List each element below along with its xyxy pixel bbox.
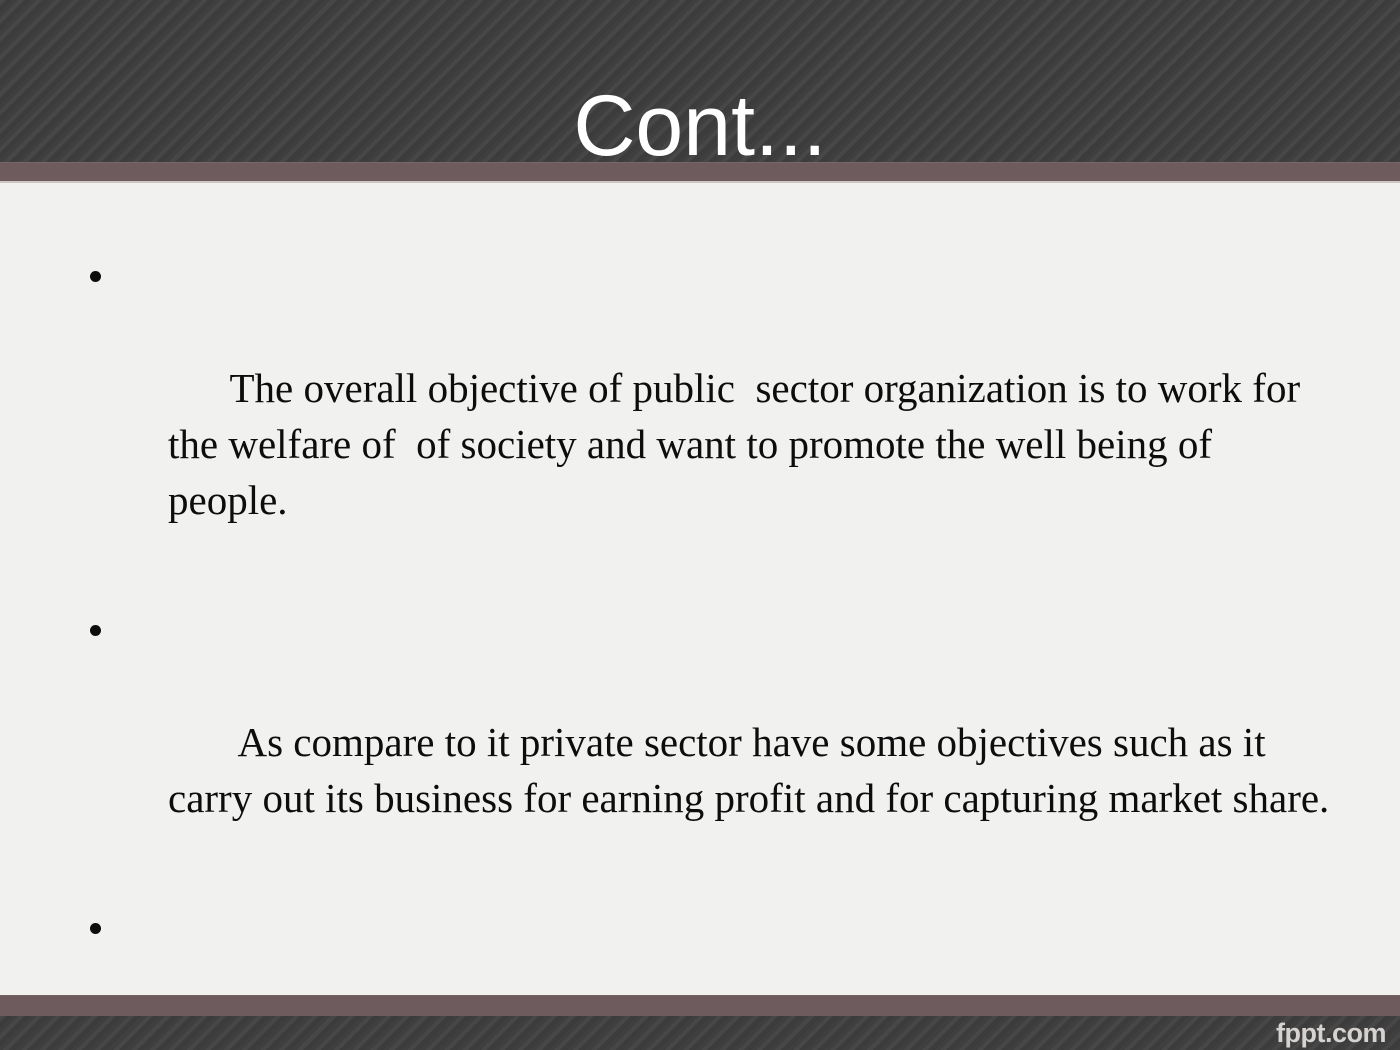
footer-accent-bar xyxy=(0,995,1400,1016)
bullet-dot-icon xyxy=(90,625,101,636)
list-item: The overall objective of public sector o… xyxy=(70,248,1330,584)
slide-body-content: The overall objective of public sector o… xyxy=(70,248,1330,1050)
presentation-slide: Cont... The overall objective of public … xyxy=(0,0,1400,1050)
list-item: As compare to it private sector have som… xyxy=(70,602,1330,882)
list-item-text: The overall objective of public sector o… xyxy=(168,365,1310,523)
list-item-text: As compare to it private sector have som… xyxy=(168,719,1329,821)
bullet-dot-icon xyxy=(90,271,101,282)
footer-stripe-band xyxy=(0,1016,1400,1050)
fppt-watermark: fppt.com xyxy=(1276,1018,1386,1049)
bullet-dot-icon xyxy=(90,923,101,934)
header-hairline-divider xyxy=(0,181,1400,183)
page-title: Cont... xyxy=(0,78,1400,174)
